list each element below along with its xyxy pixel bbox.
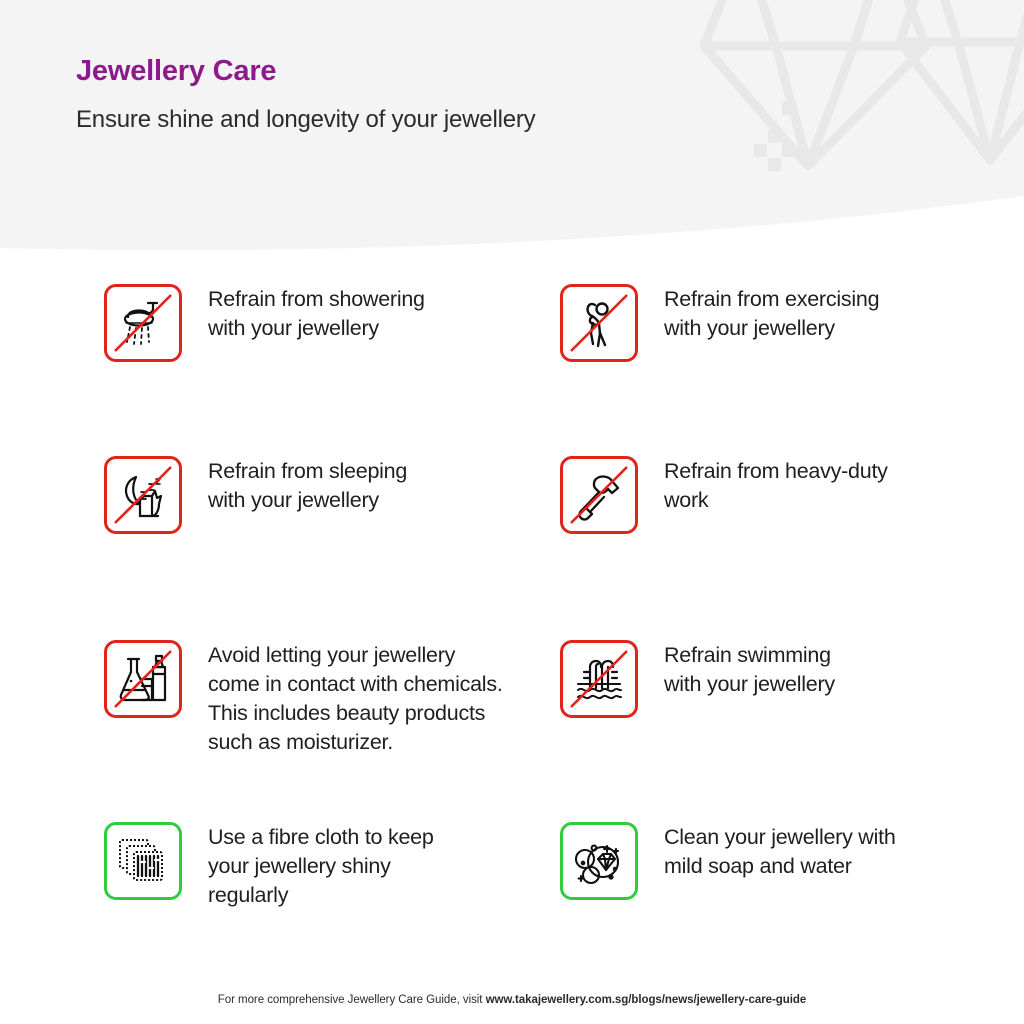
hammer-icon-box xyxy=(560,456,638,534)
tip-label: Refrain from showering with your jewelle… xyxy=(208,284,425,343)
swimming-icon-box xyxy=(560,640,638,718)
tip-no-swimming: Refrain swimming with your jewellery xyxy=(560,640,835,718)
soap-icon-box xyxy=(560,822,638,900)
shower-icon xyxy=(112,292,174,354)
tip-label: Avoid letting your jewellery come in con… xyxy=(208,640,503,757)
tip-no-showering: Refrain from showering with your jewelle… xyxy=(104,284,425,362)
shower-icon-box xyxy=(104,284,182,362)
exercising-icon-box xyxy=(560,284,638,362)
footer-prefix: For more comprehensive Jewellery Care Gu… xyxy=(218,994,486,1006)
tip-label: Refrain from sleeping with your jeweller… xyxy=(208,456,407,515)
tip-label: Use a fibre cloth to keep your jewellery… xyxy=(208,822,434,910)
tip-label: Refrain from heavy-duty work xyxy=(664,456,888,515)
sleeping-moon-cat-icon xyxy=(112,464,174,526)
soap-bubbles-gem-icon xyxy=(570,832,628,890)
page-title: Jewellery Care xyxy=(76,54,535,88)
header-text-block: Jewellery Care Ensure shine and longevit… xyxy=(76,54,535,135)
sleeping-icon-box xyxy=(104,456,182,534)
header-banner: Jewellery Care Ensure shine and longevit… xyxy=(0,0,1024,268)
tip-label: Refrain swimming with your jewellery xyxy=(664,640,835,699)
tip-no-sleeping: Refrain from sleeping with your jeweller… xyxy=(104,456,407,534)
hammer-icon xyxy=(568,464,630,526)
exercising-person-icon xyxy=(568,292,630,354)
tip-no-heavy-duty: Refrain from heavy-duty work xyxy=(560,456,888,534)
chemicals-flask-icon xyxy=(112,648,174,710)
jewellery-care-infographic: Jewellery Care Ensure shine and longevit… xyxy=(0,0,1024,1024)
footer-url[interactable]: www.takajewellery.com.sg/blogs/news/jewe… xyxy=(486,994,807,1006)
page-subtitle: Ensure shine and longevity of your jewel… xyxy=(76,105,535,135)
tip-clean-with-soap: Clean your jewellery with mild soap and … xyxy=(560,822,896,900)
tip-label: Refrain from exercising with your jewell… xyxy=(664,284,879,343)
diamond-watermark-icon xyxy=(690,0,1024,224)
fibre-cloth-icon xyxy=(114,832,172,890)
tip-use-fibre-cloth: Use a fibre cloth to keep your jewellery… xyxy=(104,822,434,910)
swimming-pool-icon xyxy=(568,648,630,710)
tip-label: Clean your jewellery with mild soap and … xyxy=(664,822,896,881)
fibre-cloth-icon-box xyxy=(104,822,182,900)
chemicals-icon-box xyxy=(104,640,182,718)
footer-note: For more comprehensive Jewellery Care Gu… xyxy=(0,994,1024,1006)
tip-no-chemicals: Avoid letting your jewellery come in con… xyxy=(104,640,503,757)
tip-no-exercising: Refrain from exercising with your jewell… xyxy=(560,284,879,362)
